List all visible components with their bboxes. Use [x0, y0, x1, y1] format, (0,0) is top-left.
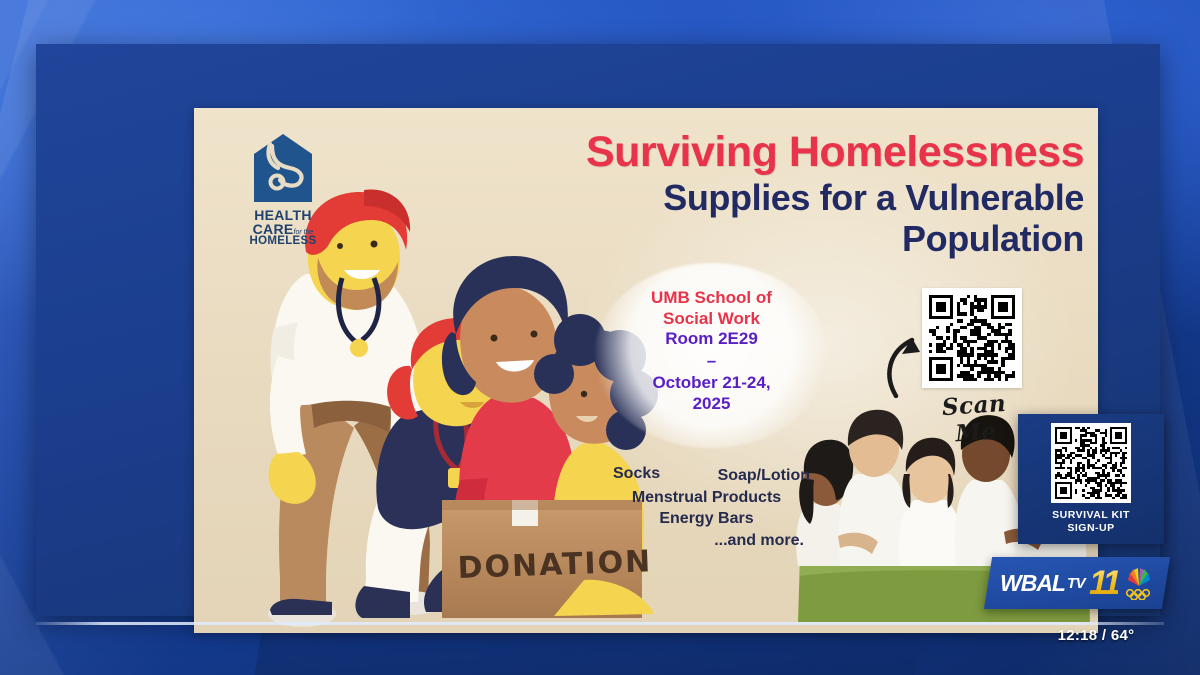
detail-separator: –: [604, 351, 819, 372]
station-logo-bug: WBAL TV 11: [984, 557, 1170, 609]
supply-item: Energy Bars: [599, 508, 814, 529]
caption-line-1: SURVIVAL KIT: [1018, 509, 1164, 522]
venue-line-2: Social Work: [604, 309, 819, 330]
network-marks: [1124, 566, 1154, 600]
logo-line-homeless: HOMELESS: [237, 236, 329, 248]
supplies-list: Socks Soap/Lotion Menstrual Products Ene…: [599, 463, 814, 551]
qr-code-icon[interactable]: [1051, 423, 1131, 503]
venue-line-1: UMB School of: [604, 288, 819, 309]
headline-main: Surviving Homelessness: [424, 130, 1084, 175]
house-stethoscope-logo-icon: [250, 132, 316, 204]
scan-me-label: Scan Me: [918, 388, 1031, 450]
event-details: UMB School of Social Work Room 2E29 – Oc…: [604, 288, 819, 414]
supply-item: Menstrual Products: [599, 487, 814, 508]
event-dates-line1: October 21-24,: [604, 373, 819, 394]
station-channel-number: 11: [1089, 564, 1118, 603]
station-tv-label: TV: [1067, 575, 1085, 592]
survival-kit-caption: SURVIVAL KIT SIGN-UP: [1018, 509, 1164, 535]
curved-arrow-icon: [882, 328, 942, 398]
nbc-peacock-icon: [1126, 566, 1152, 588]
room-number: Room 2E29: [604, 329, 819, 350]
survival-kit-qr-panel[interactable]: SURVIVAL KIT SIGN-UP: [1018, 414, 1164, 544]
story-card-panel: DONATION: [36, 44, 1160, 616]
event-dates-line2: 2025: [604, 394, 819, 415]
station-callsign: WBAL: [1000, 570, 1065, 597]
olympic-rings-icon: [1124, 589, 1154, 600]
flyer-headline: Surviving Homelessness Supplies for a Vu…: [424, 130, 1084, 260]
caption-line-2: SIGN-UP: [1018, 522, 1164, 535]
time-and-temperature: 12:18 / 64°: [1016, 627, 1176, 644]
supply-item: ...and more.: [599, 530, 814, 551]
headline-subtitle-line1: Supplies for a Vulnerable: [424, 177, 1084, 219]
logo-line-health: HEALTH: [237, 208, 329, 222]
health-care-for-the-homeless-logo: HEALTH CAREfor the HOMELESS: [237, 132, 329, 248]
headline-subtitle-line2: Population: [424, 218, 1084, 260]
flyer-graphic: DONATION: [194, 108, 1098, 633]
lower-third-divider: [36, 622, 1164, 625]
logo-line-care: CAREfor the: [237, 222, 329, 236]
